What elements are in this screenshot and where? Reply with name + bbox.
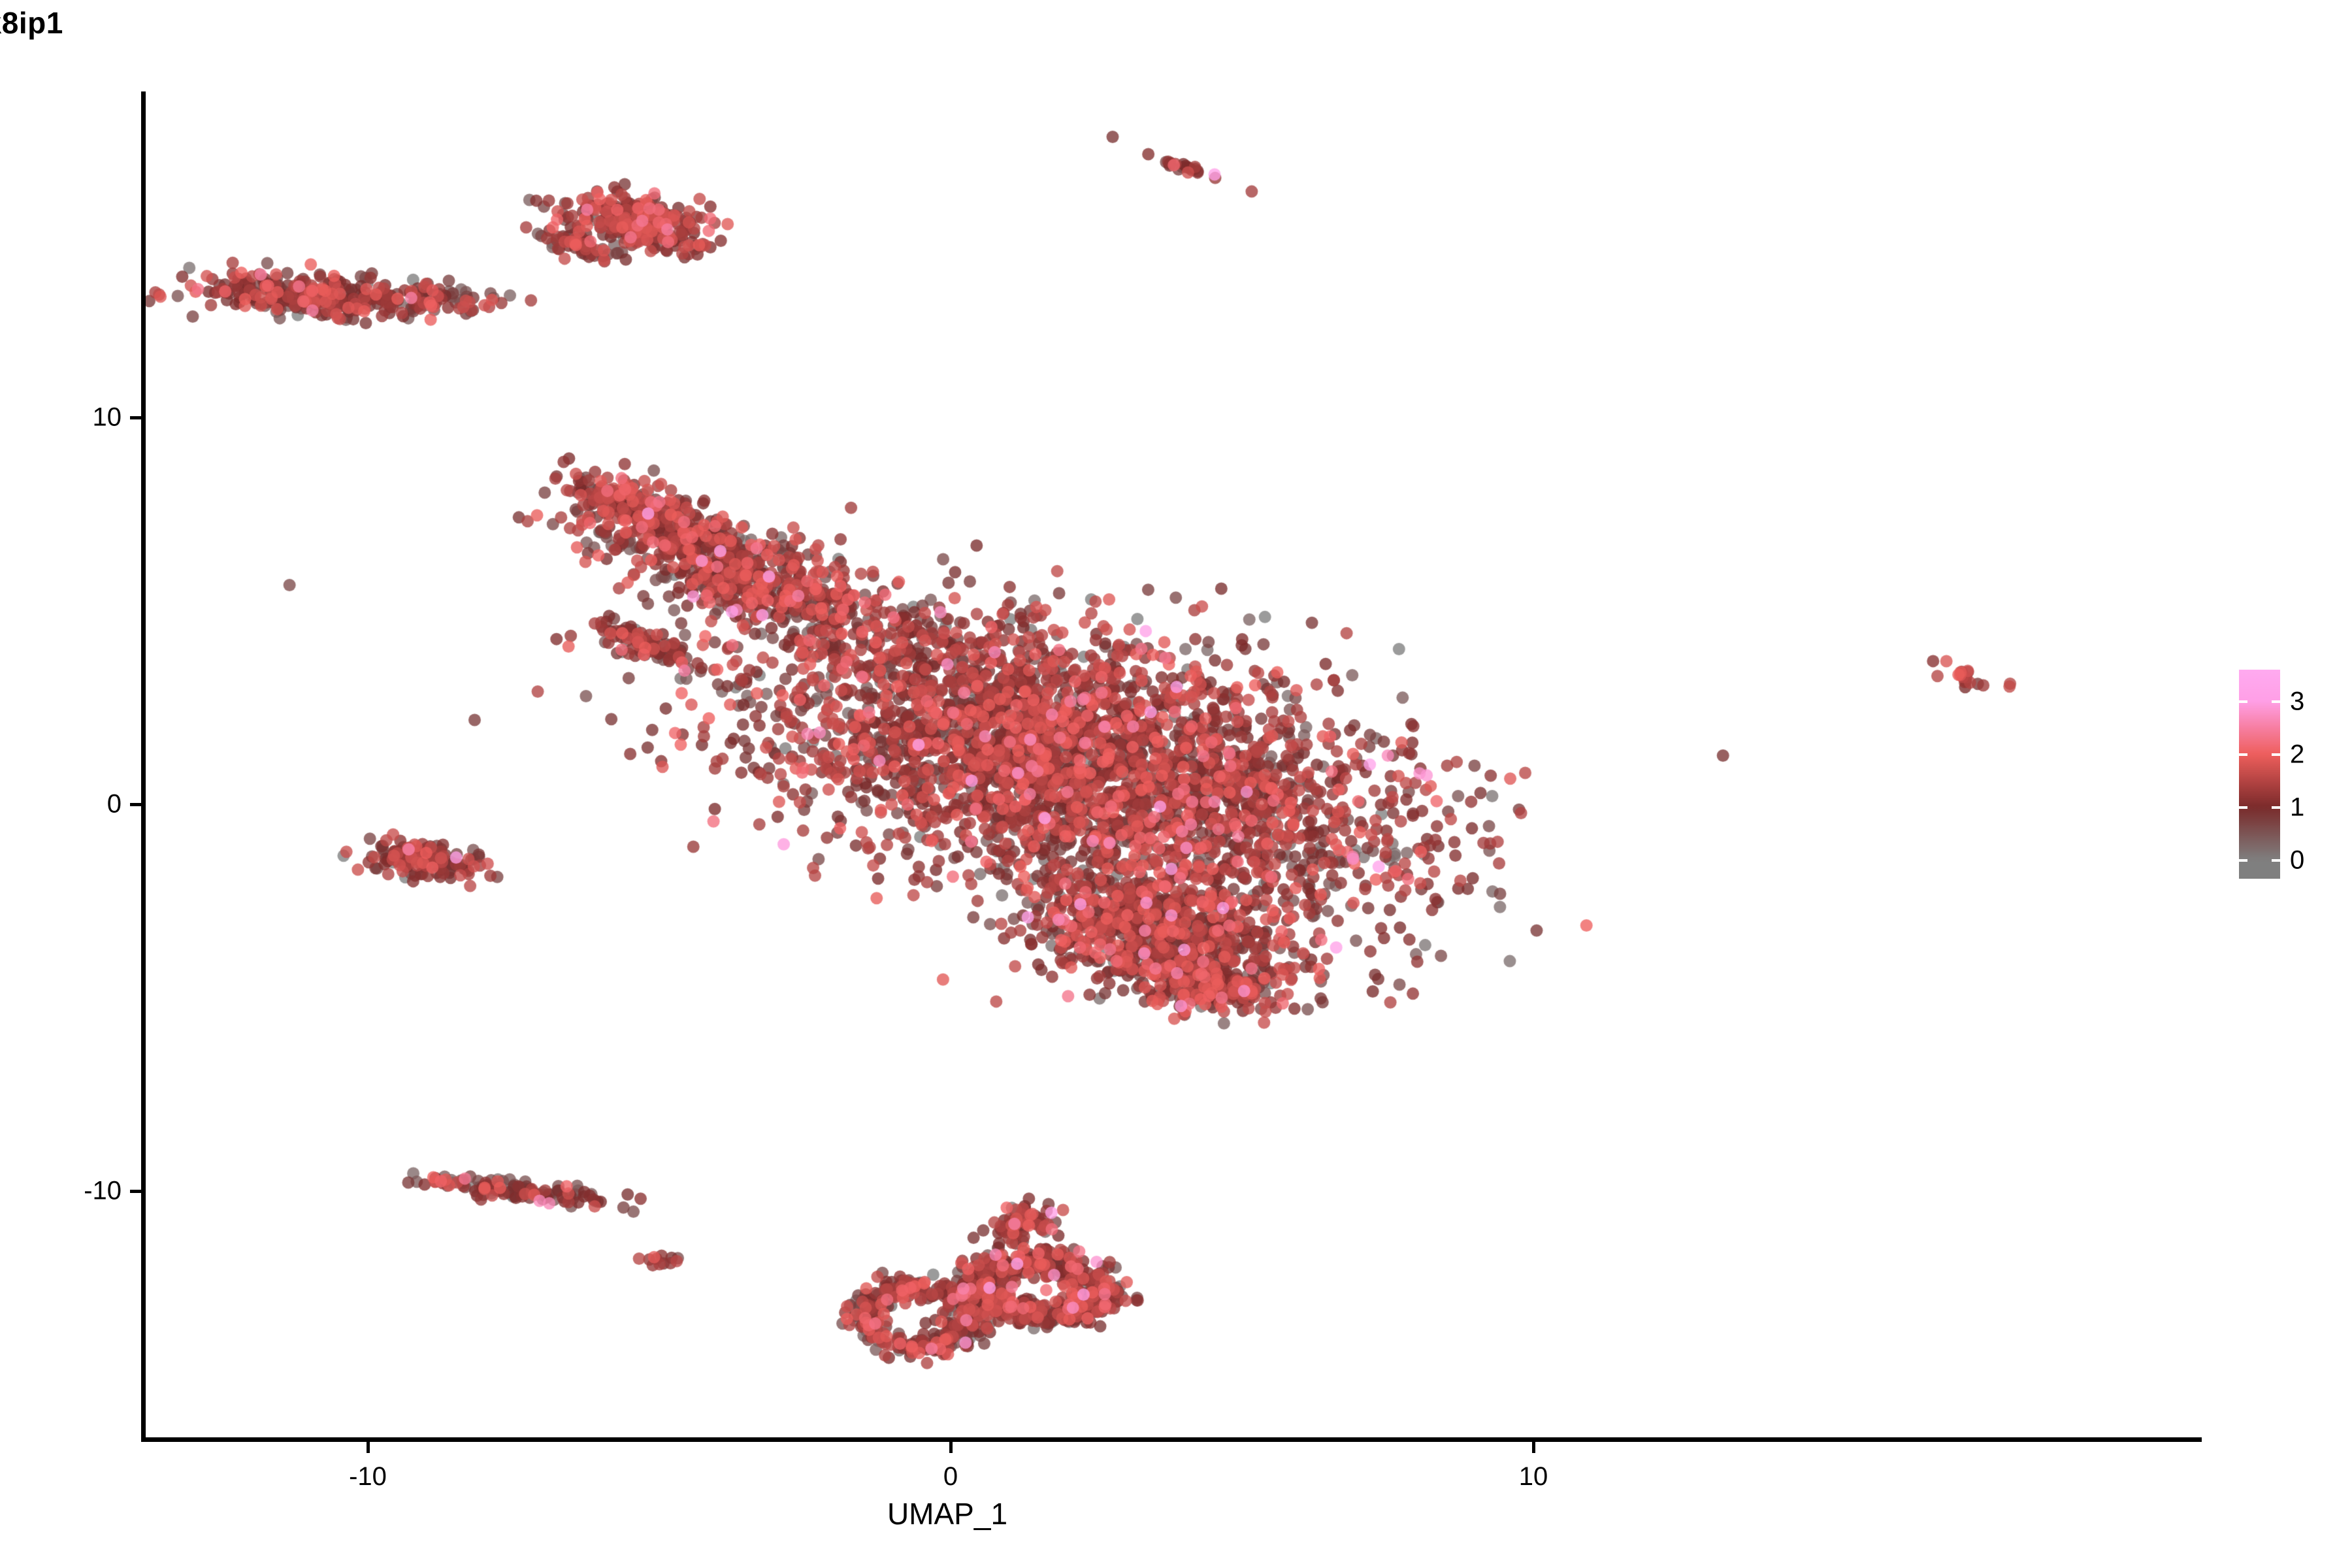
x-tick-mark	[1532, 1442, 1535, 1453]
y-tick-mark	[130, 416, 141, 419]
umap-feature-plot: Mapk8ip1 100-10-10010 UMAP_2 UMAP_1 3210	[0, 0, 2352, 1568]
color-legend-tick-mark	[2239, 806, 2247, 809]
x-tick-label: 10	[1519, 1462, 1548, 1492]
color-legend-tick-mark	[2239, 859, 2247, 862]
color-legend-tick-mark	[2272, 806, 2280, 809]
color-legend-label: 2	[2290, 740, 2304, 769]
color-legend-tick-mark	[2272, 753, 2280, 756]
y-tick-label: 10	[0, 403, 122, 433]
plot-panel	[144, 91, 2202, 1439]
y-tick-label: 0	[0, 790, 122, 819]
y-axis-line	[141, 91, 146, 1442]
x-tick-mark	[367, 1442, 370, 1453]
x-tick-mark	[949, 1442, 953, 1453]
y-tick-mark	[130, 1190, 141, 1193]
scatter-points-layer	[144, 91, 2202, 1439]
x-axis-title: UMAP_1	[0, 1496, 1895, 1531]
color-legend-label: 1	[2290, 792, 2304, 822]
color-legend-label: 3	[2290, 687, 2304, 716]
color-legend: 3210	[2239, 670, 2280, 879]
x-tick-label: 0	[943, 1462, 958, 1492]
color-legend-tick-mark	[2272, 859, 2280, 862]
x-axis-line	[141, 1437, 2202, 1442]
color-legend-tick-mark	[2239, 753, 2247, 756]
y-tick-label: -10	[0, 1177, 122, 1206]
x-tick-label: -10	[349, 1462, 387, 1492]
color-legend-tick-mark	[2272, 700, 2280, 703]
y-tick-mark	[130, 803, 141, 806]
color-legend-label: 0	[2290, 845, 2304, 875]
color-legend-tick-mark	[2239, 700, 2247, 703]
page-title: Mapk8ip1	[0, 5, 1169, 41]
